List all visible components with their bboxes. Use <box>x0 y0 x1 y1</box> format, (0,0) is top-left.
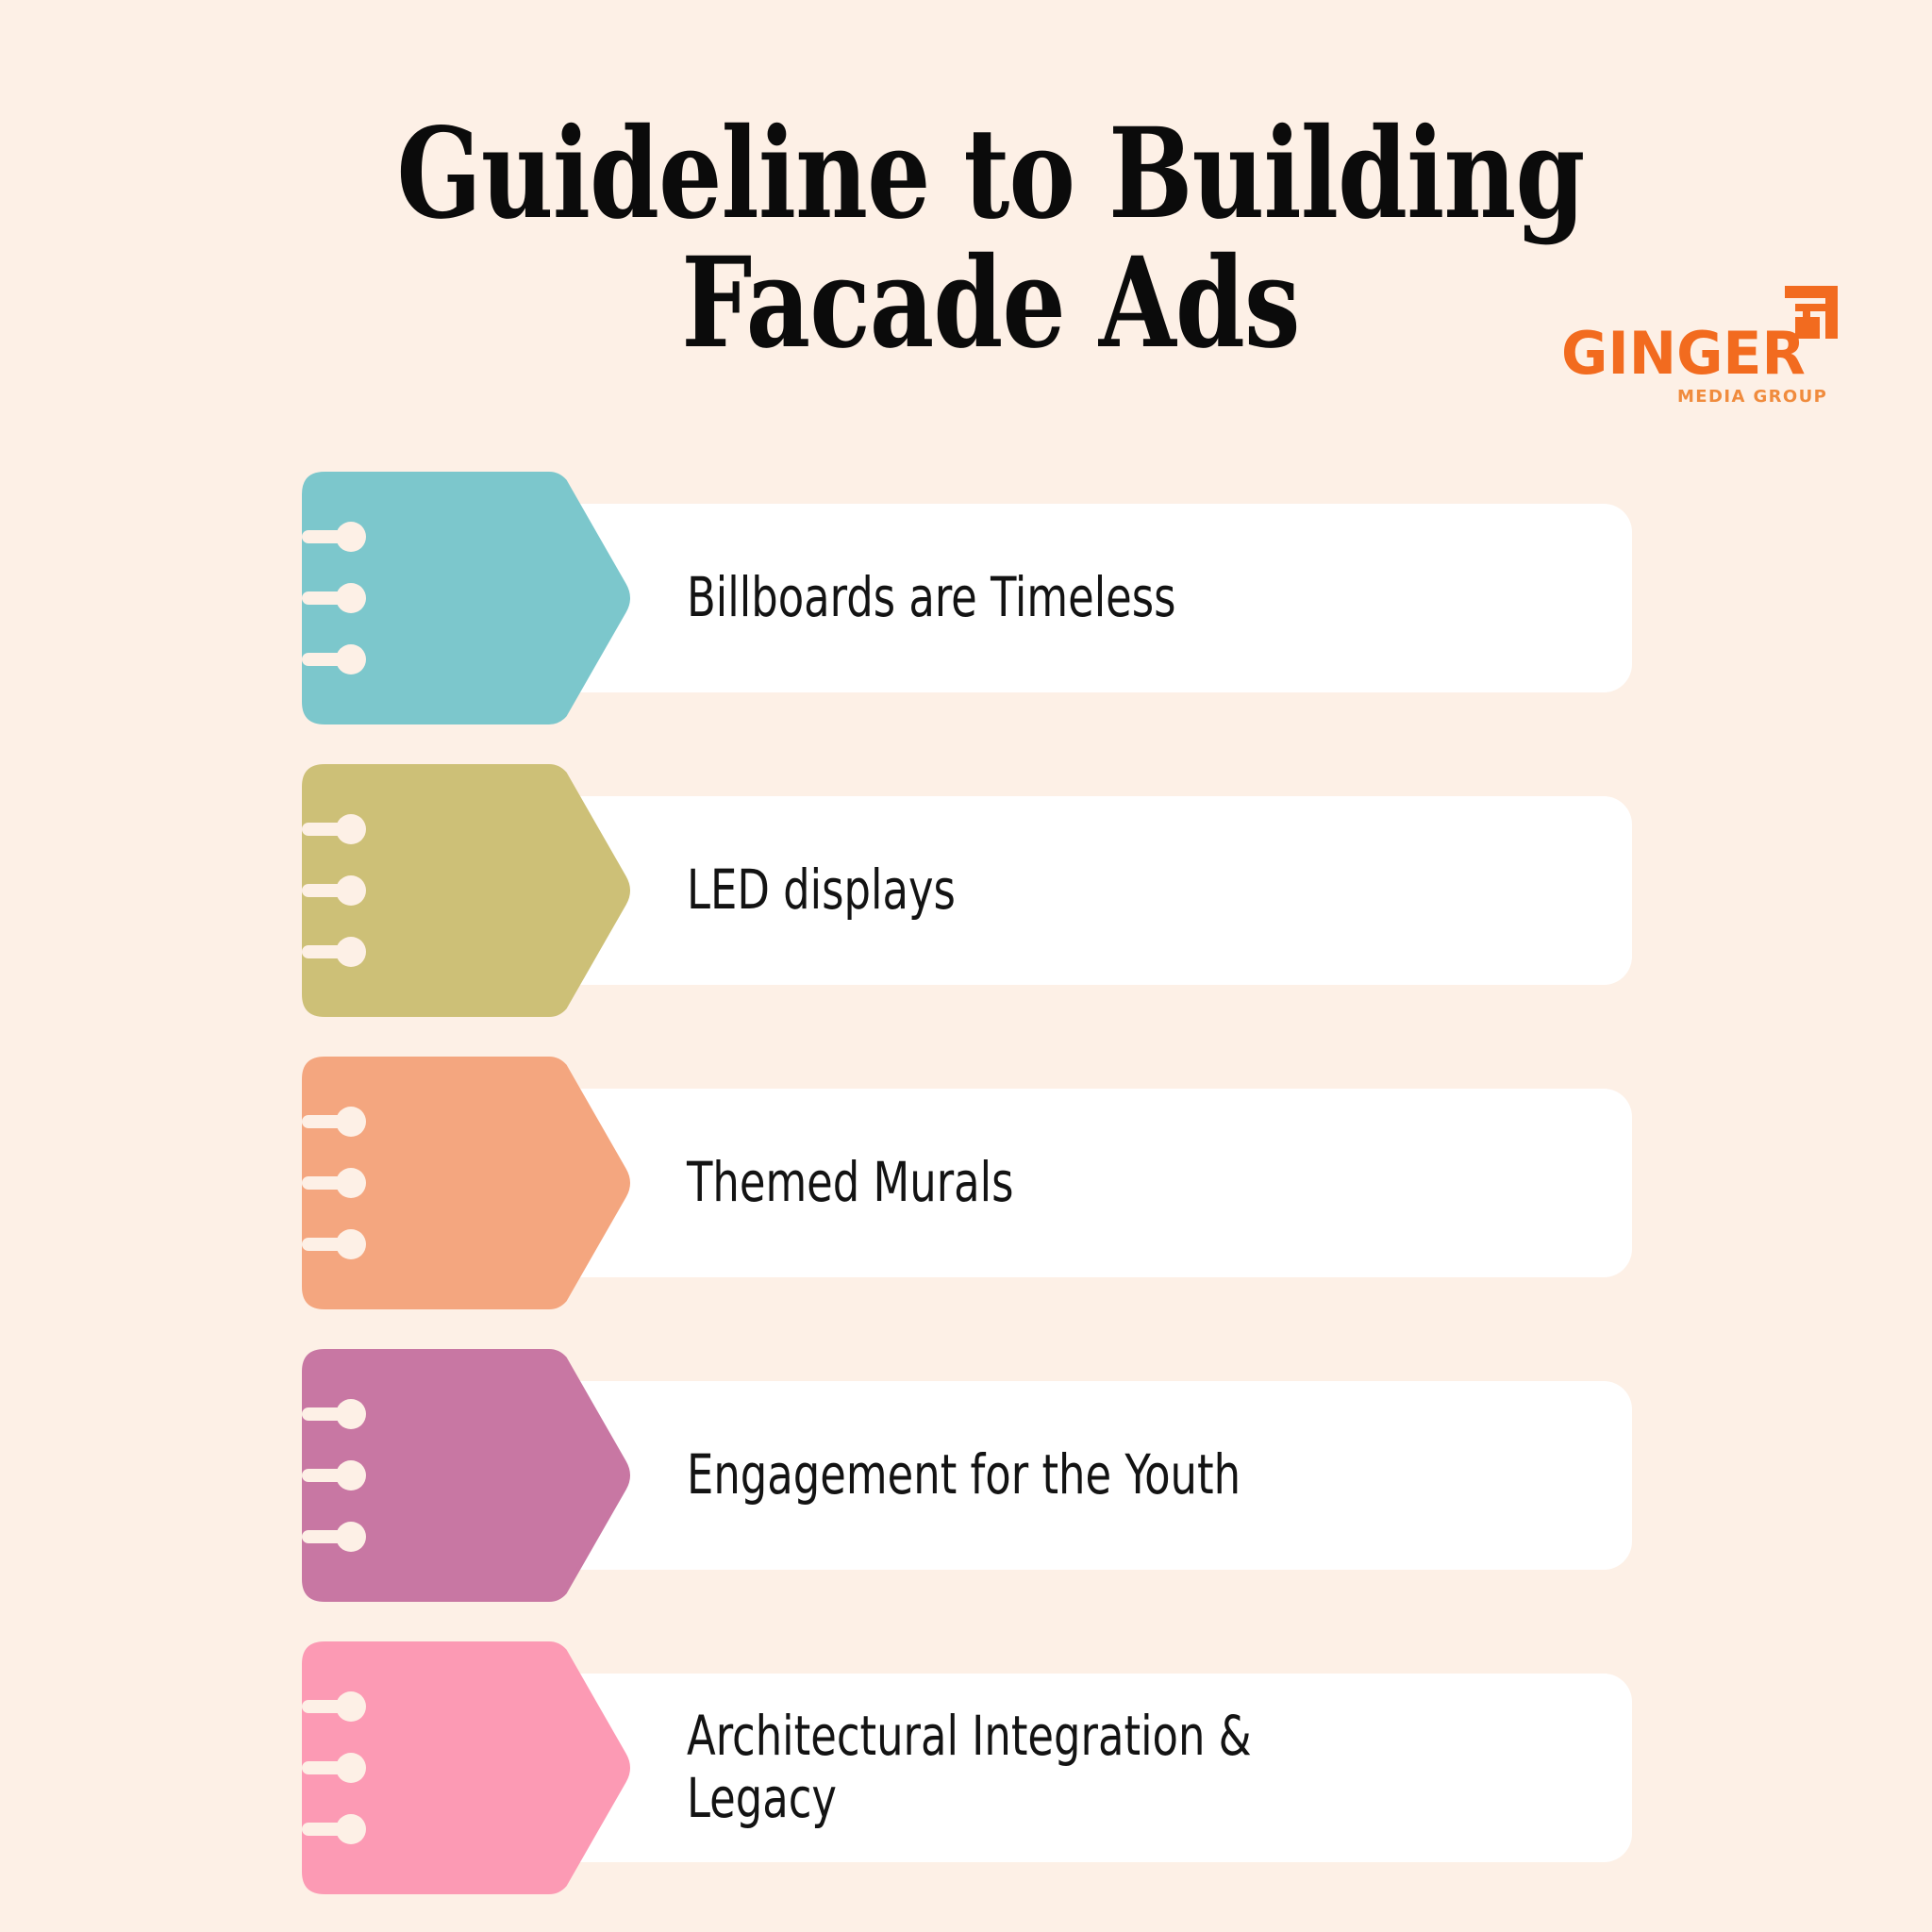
list-item-label-text: LED displays <box>687 859 956 922</box>
list-item[interactable]: Architectural Integration & Legacy <box>0 1641 1932 1896</box>
list-item-label-text-line-2: Legacy <box>687 1768 1252 1830</box>
tag-arrow-icon <box>302 1057 632 1309</box>
list-item-label: Engagement for the Youth <box>687 1349 1466 1602</box>
infographic-page: Guideline to Building Facade Ads GINGER … <box>0 0 1932 1932</box>
list-item-label: LED displays <box>687 764 1466 1017</box>
list-item[interactable]: LED displays <box>0 764 1932 1019</box>
list-item-label-text: Themed Murals <box>687 1152 1014 1214</box>
list-item-label-text: Engagement for the Youth <box>687 1444 1241 1507</box>
tag-arrow-icon <box>302 1641 632 1894</box>
list-item-label: Themed Murals <box>687 1057 1466 1309</box>
list-item-label-text-line-1: Architectural Integration & <box>687 1706 1252 1768</box>
list-item-label-text: Billboards are Timeless <box>687 567 1176 629</box>
list-item-label: Architectural Integration & Legacy <box>687 1641 1466 1894</box>
guideline-list: Billboards are Timeless <box>0 0 1932 1932</box>
tag-arrow-icon <box>302 1349 632 1602</box>
list-item[interactable]: Billboards are Timeless <box>0 472 1932 726</box>
list-item[interactable]: Engagement for the Youth <box>0 1349 1932 1604</box>
tag-arrow-icon <box>302 472 632 724</box>
list-item-label: Billboards are Timeless <box>687 472 1466 724</box>
tag-arrow-icon <box>302 764 632 1017</box>
list-item[interactable]: Themed Murals <box>0 1057 1932 1311</box>
